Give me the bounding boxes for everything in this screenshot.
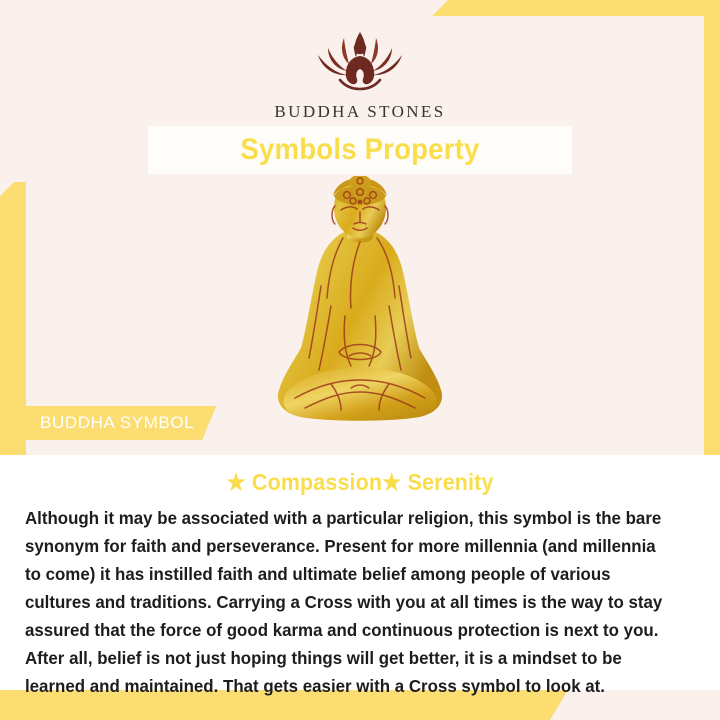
category-label: BUDDHA SYMBOL [40, 413, 194, 433]
title-band: Symbols Property [148, 126, 572, 174]
content-headline: ★ Compassion★ Serenity [25, 469, 695, 496]
content-paragraph: Although it may be associated with a par… [0, 504, 691, 700]
category-ribbon: BUDDHA SYMBOL [20, 406, 216, 440]
content-panel: ★ Compassion★ Serenity Although it may b… [0, 455, 720, 690]
decor-top-right-bar [432, 0, 720, 16]
brand-name: BUDDHA STONES [0, 102, 720, 122]
poster-canvas: BUDDHA STONES Symbols Property [0, 0, 720, 720]
golden-seated-buddha-illustration [265, 176, 455, 444]
lotus-meditation-icon [300, 24, 420, 96]
hero-buddha-image [265, 176, 455, 444]
brand-logo: BUDDHA STONES [0, 24, 720, 122]
page-title: Symbols Property [240, 133, 479, 167]
